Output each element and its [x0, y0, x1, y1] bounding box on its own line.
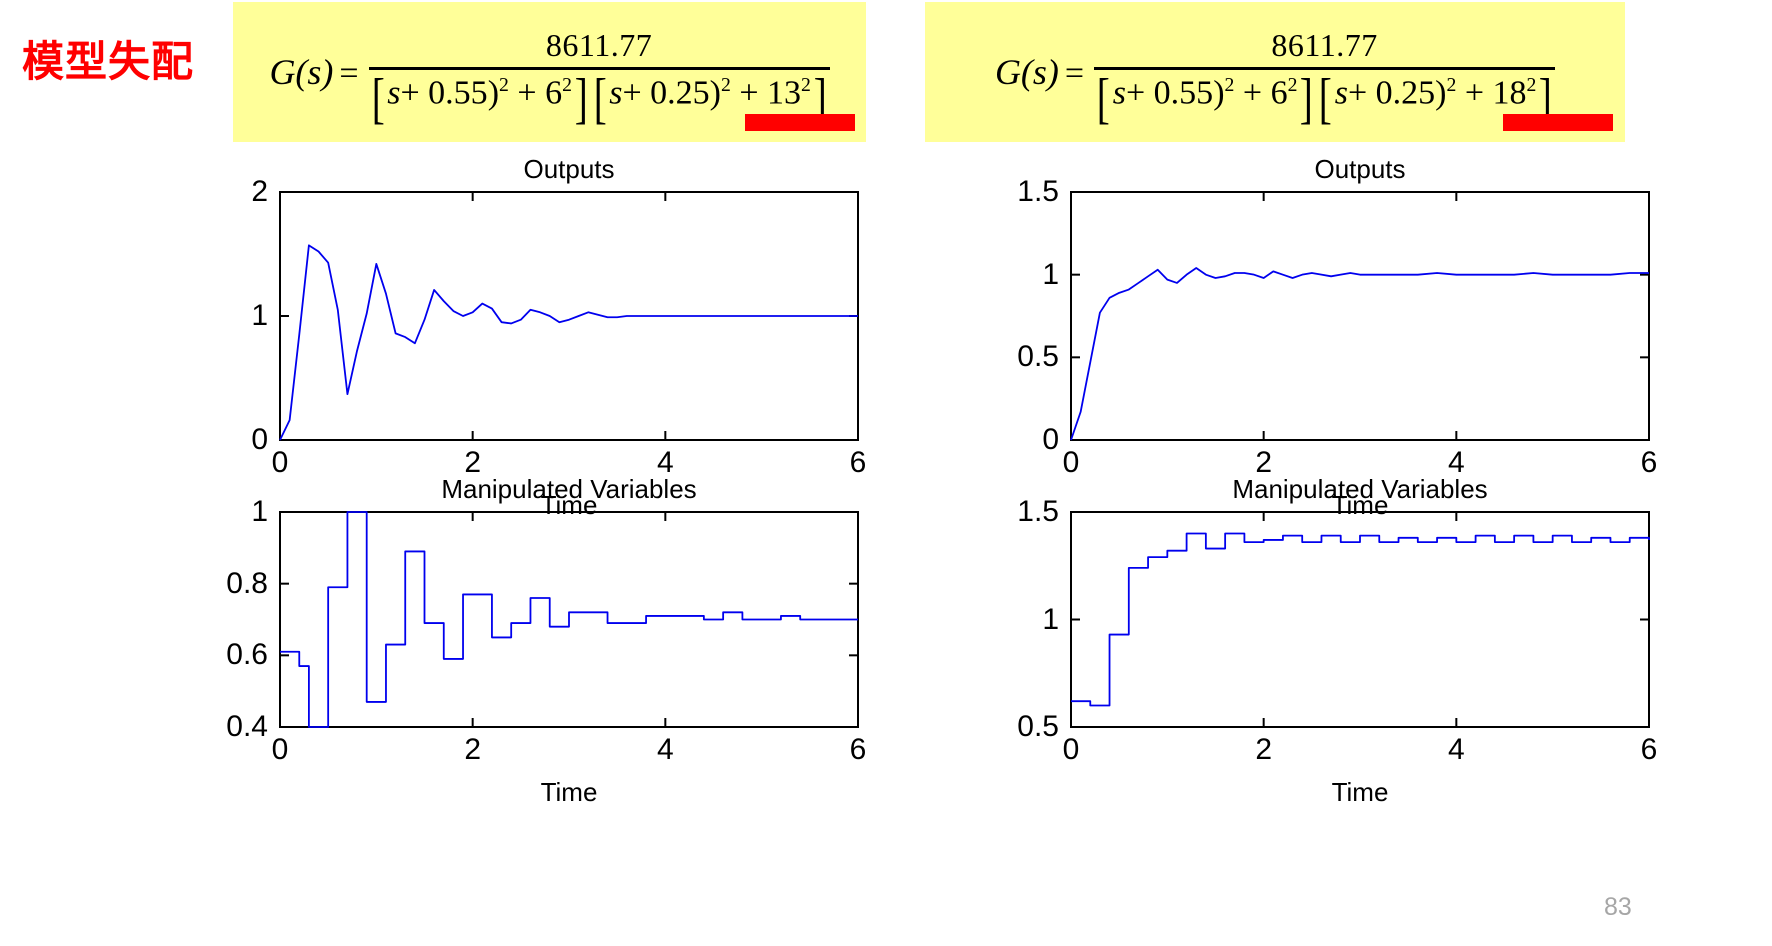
left-outputs-axes-frame — [280, 192, 858, 440]
right-manipulated-ytick-2: 1.5 — [921, 495, 1059, 529]
right-outputs-axes-frame — [1071, 192, 1649, 440]
bracket-open-icon: [ — [371, 82, 384, 117]
right-outputs-ytick-2: 1 — [921, 258, 1059, 292]
left-outputs-xlabel: Time — [280, 490, 858, 521]
bracket-close-2-icon: ] — [1539, 82, 1552, 117]
bracket-close-icon: ] — [575, 82, 588, 117]
left-outputs-xtick-3: 6 — [850, 446, 867, 480]
f2-term-sq: 2 — [1527, 74, 1537, 96]
left-manipulated-ytick-0: 0.4 — [130, 710, 268, 744]
bracket-open-icon: [ — [1097, 82, 1110, 117]
right-manipulated-ytick-1: 1 — [921, 603, 1059, 637]
f2-term-sq: 2 — [801, 74, 811, 96]
bracket-close-2-icon: ] — [814, 82, 827, 117]
f1-sq: 2 — [499, 74, 509, 96]
formula-right-numerator: 8611.77 — [1094, 27, 1555, 67]
right-manipulated-title: Manipulated Variables — [1071, 474, 1649, 505]
right-outputs-title: Outputs — [1071, 154, 1649, 185]
left-outputs-series-0 — [280, 245, 858, 440]
f1-sq: 2 — [1225, 74, 1235, 96]
right-manipulated-ytick-0: 0.5 — [921, 710, 1059, 744]
right-manipulated-xtick-1: 2 — [1255, 733, 1272, 767]
formula-right-fraction: 8611.77 [s+ 0.55)2 + 62][s+ 0.25)2 + 182… — [1094, 27, 1555, 117]
f1-term-sq: 2 — [1288, 74, 1298, 96]
f1-base: s — [387, 74, 400, 111]
left-manipulated-axes-frame — [280, 512, 858, 727]
right-manipulated-xtick-0: 0 — [1063, 733, 1080, 767]
f2-sq: 2 — [1446, 74, 1456, 96]
right-manipulated-xlabel: Time — [1071, 777, 1649, 808]
left-outputs-title: Outputs — [280, 154, 858, 185]
left-manipulated-ytick-1: 0.6 — [130, 638, 268, 672]
formula-right-denominator: [s+ 0.55)2 + 62][s+ 0.25)2 + 182] — [1094, 70, 1555, 117]
f2-add: + 0.25 — [1348, 74, 1435, 111]
bracket-open-2-icon: [ — [1319, 82, 1332, 117]
formula-left-numerator: 8611.77 — [369, 27, 830, 67]
right-outputs-xtick-3: 6 — [1641, 446, 1658, 480]
f1-term-sq: 2 — [562, 74, 572, 96]
right-manipulated-xtick-3: 6 — [1641, 733, 1658, 767]
left-outputs-xtick-2: 4 — [657, 446, 674, 480]
left-outputs-xtick-0: 0 — [272, 446, 289, 480]
f2-add: + 0.25 — [622, 74, 709, 111]
f2-term: 18 — [1493, 74, 1527, 111]
left-outputs-xtick-1: 2 — [464, 446, 481, 480]
left-manipulated-ytick-3: 1 — [130, 495, 268, 529]
formula-left-fraction: 8611.77 [s+ 0.55)2 + 62][s+ 0.25)2 + 132… — [369, 27, 830, 117]
right-outputs-xtick-0: 0 — [1063, 446, 1080, 480]
right-outputs-series-0 — [1071, 268, 1649, 440]
bracket-open-2-icon: [ — [593, 82, 606, 117]
formula-box-left: G(s)= 8611.77 [s+ 0.55)2 + 62][s+ 0.25)2… — [233, 2, 866, 142]
right-outputs-xtick-2: 4 — [1448, 446, 1465, 480]
left-manipulated-series-0 — [280, 512, 858, 727]
formula-right-lhs: G(s)= — [995, 51, 1094, 93]
right-outputs-ytick-1: 0.5 — [921, 340, 1059, 374]
formula-right-equals: = — [1059, 55, 1090, 92]
f1-term: 6 — [545, 74, 562, 111]
right-manipulated-xtick-2: 4 — [1448, 733, 1465, 767]
formula-left-lhs: G(s)= — [269, 51, 368, 93]
f2-base: s — [1335, 74, 1348, 111]
left-manipulated-xtick-3: 6 — [850, 733, 867, 767]
left-manipulated-xtick-0: 0 — [272, 733, 289, 767]
slide-label-model-mismatch: 模型失配 — [22, 28, 194, 89]
left-manipulated-xtick-2: 4 — [657, 733, 674, 767]
right-outputs-ytick-3: 1.5 — [921, 175, 1059, 209]
right-outputs-xlabel: Time — [1071, 490, 1649, 521]
formula-left-denominator: [s+ 0.55)2 + 62][s+ 0.25)2 + 132] — [369, 70, 830, 117]
left-manipulated-ytick-2: 0.8 — [130, 567, 268, 601]
formula-box-right: G(s)= 8611.77 [s+ 0.55)2 + 62][s+ 0.25)2… — [925, 2, 1625, 142]
red-underline-highlight-right — [1503, 114, 1613, 131]
left-manipulated-title: Manipulated Variables — [280, 474, 858, 505]
formula-left-gs: G(s) — [269, 52, 333, 92]
f1-add: + 0.55 — [401, 74, 488, 111]
f2-term: 13 — [767, 74, 801, 111]
f1-base: s — [1113, 74, 1126, 111]
red-underline-highlight-left — [745, 114, 855, 131]
right-outputs-ytick-0: 0 — [921, 423, 1059, 457]
page-number: 83 — [1604, 893, 1632, 922]
f2-base: s — [609, 74, 622, 111]
bracket-close-icon: ] — [1300, 82, 1313, 117]
left-outputs-ytick-0: 0 — [130, 423, 268, 457]
right-manipulated-series-0 — [1071, 534, 1649, 706]
left-manipulated-xtick-1: 2 — [464, 733, 481, 767]
left-outputs-ytick-1: 1 — [130, 299, 268, 333]
f1-add: + 0.55 — [1126, 74, 1213, 111]
f2-sq: 2 — [721, 74, 731, 96]
formula-left-equals: = — [333, 55, 364, 92]
f1-term: 6 — [1271, 74, 1288, 111]
left-manipulated-xlabel: Time — [280, 777, 858, 808]
right-outputs-xtick-1: 2 — [1255, 446, 1272, 480]
formula-right-gs: G(s) — [995, 52, 1059, 92]
left-outputs-ytick-2: 2 — [130, 175, 268, 209]
right-manipulated-axes-frame — [1071, 512, 1649, 727]
